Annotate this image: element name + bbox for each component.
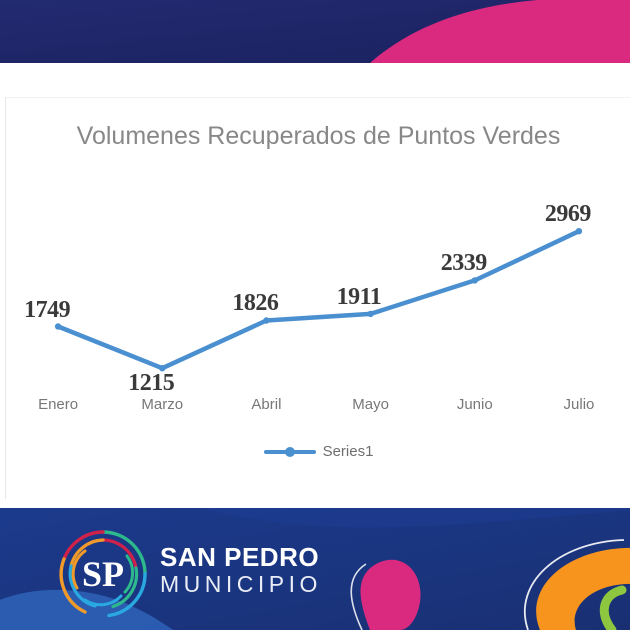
logo-monogram: SP — [82, 554, 124, 594]
slide-canvas: Volumenes Recuperados de Puntos Verdes 1… — [0, 0, 630, 630]
data-label: 2969 — [545, 201, 591, 228]
data-label: 1215 — [128, 370, 174, 397]
chart-title: Volumenes Recuperados de Puntos Verdes — [6, 118, 630, 154]
brand-name-secondary: MUNICIPIO — [160, 573, 322, 596]
chart-legend[interactable]: Series1 — [6, 443, 630, 460]
chart-card: Volumenes Recuperados de Puntos Verdes 1… — [5, 97, 630, 499]
data-point-marker[interactable] — [367, 311, 373, 317]
logo-arc-cyan-inner — [85, 596, 121, 605]
chart-plot-area — [6, 208, 630, 398]
x-axis-tick-mayo: Mayo — [319, 396, 423, 424]
legend-line-marker-icon — [264, 445, 316, 459]
x-axis-tick-abril: Abril — [214, 396, 318, 424]
sp-logo: SP — [55, 526, 151, 622]
legend-series-label: Series1 — [323, 443, 374, 460]
x-axis-tick-junio: Junio — [423, 396, 527, 424]
data-label: 1826 — [232, 290, 278, 317]
data-label: 1749 — [24, 297, 70, 324]
series-line — [58, 231, 579, 368]
x-axis-tick-marzo: Marzo — [110, 396, 214, 424]
data-point-marker[interactable] — [472, 277, 478, 283]
data-label: 2339 — [441, 250, 487, 277]
data-point-marker[interactable] — [263, 317, 269, 323]
x-axis-labels: EneroMarzoAbrilMayoJunioJulio — [6, 396, 630, 424]
x-axis-tick-enero: Enero — [6, 396, 110, 424]
data-label: 1911 — [337, 284, 382, 311]
header-band — [0, 0, 630, 63]
logo-arc-teal-inner — [125, 556, 133, 592]
data-point-marker[interactable] — [55, 323, 61, 329]
magenta-blob-shape — [361, 560, 421, 630]
brand-text: SAN PEDRO MUNICIPIO — [160, 544, 322, 596]
data-point-marker[interactable] — [576, 228, 582, 234]
series-markers — [55, 228, 582, 371]
x-axis-tick-julio: Julio — [527, 396, 630, 424]
brand-name-primary: SAN PEDRO — [160, 544, 322, 570]
